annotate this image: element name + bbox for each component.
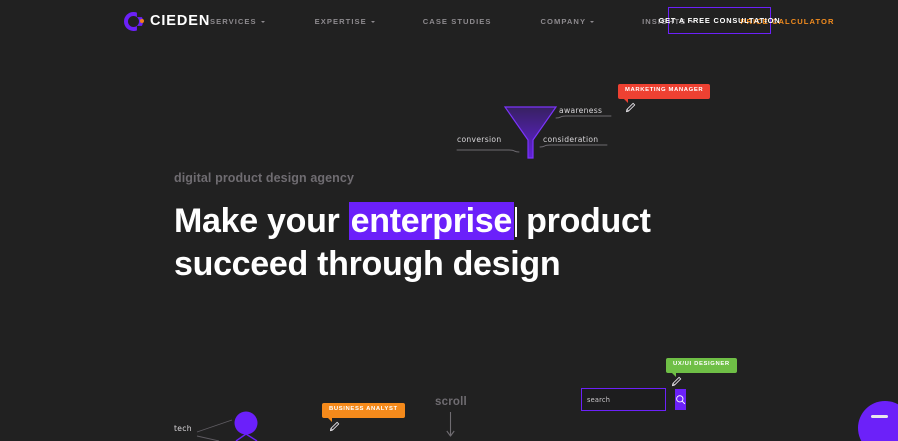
site-header: CIEDEN SERVICES EXPERTISE CASE STUDIES C…	[0, 0, 898, 42]
funnel-graphic	[505, 107, 556, 158]
chat-widget-icon[interactable]	[858, 401, 898, 441]
mindmap-node-graphic	[197, 412, 258, 441]
search-icon	[675, 394, 686, 405]
headline-highlight: enterprise	[349, 202, 514, 240]
nav-item-company[interactable]: COMPANY	[540, 17, 594, 26]
scroll-label: scroll	[435, 396, 467, 408]
funnel-label-awareness: awareness	[559, 106, 602, 115]
scroll-hint[interactable]: scroll	[435, 396, 467, 440]
chevron-down-icon	[590, 21, 594, 23]
funnel-label-consideration: consideration	[543, 135, 598, 144]
chevron-down-icon	[371, 21, 375, 23]
badge-business-analyst-label: BUSINESS ANALYST	[329, 406, 398, 412]
nav-label-case-studies: CASE STUDIES	[423, 17, 492, 26]
search-button[interactable]	[675, 389, 686, 410]
nav-item-case-studies[interactable]: CASE STUDIES	[423, 17, 492, 26]
funnel-label-conversion: conversion	[457, 135, 501, 144]
pencil-icon	[670, 375, 683, 388]
cieden-c-mark-icon	[124, 12, 143, 31]
logo[interactable]: CIEDEN	[124, 12, 210, 31]
search-widget	[581, 388, 666, 411]
nav-item-services[interactable]: SERVICES	[210, 17, 265, 26]
page-title: Make your enterprise product succeed thr…	[174, 200, 694, 286]
badge-marketing-manager[interactable]: MARKETING MANAGER	[618, 84, 710, 99]
hero-page: CIEDEN SERVICES EXPERTISE CASE STUDIES C…	[0, 0, 898, 441]
headline-part-1: Make your	[174, 202, 349, 240]
nav-label-services: SERVICES	[210, 17, 257, 26]
arrow-down-icon	[444, 408, 457, 440]
badge-ux-ui-designer-label: UX/UI DESIGNER	[673, 361, 730, 367]
nav-label-expertise: EXPERTISE	[315, 17, 367, 26]
funnel-connector-lines	[457, 116, 611, 152]
nav-item-expertise[interactable]: EXPERTISE	[315, 17, 375, 26]
badge-ux-ui-designer[interactable]: UX/UI DESIGNER	[666, 358, 737, 373]
logo-text: CIEDEN	[150, 14, 210, 29]
hero-eyebrow: digital product design agency	[174, 171, 354, 185]
nav-label-company: COMPANY	[540, 17, 586, 26]
headline-part-2: product	[517, 202, 651, 240]
mindmap-label-tech: tech	[174, 424, 192, 433]
pencil-icon	[624, 101, 637, 114]
pencil-icon	[328, 420, 341, 433]
get-free-consultation-button[interactable]: GET A FREE CONSULTATION	[668, 7, 771, 34]
chevron-down-icon	[261, 21, 265, 23]
badge-marketing-manager-label: MARKETING MANAGER	[625, 87, 703, 93]
headline-line-2: succeed through design	[174, 245, 560, 283]
badge-business-analyst[interactable]: BUSINESS ANALYST	[322, 403, 405, 418]
search-input[interactable]	[582, 389, 675, 410]
